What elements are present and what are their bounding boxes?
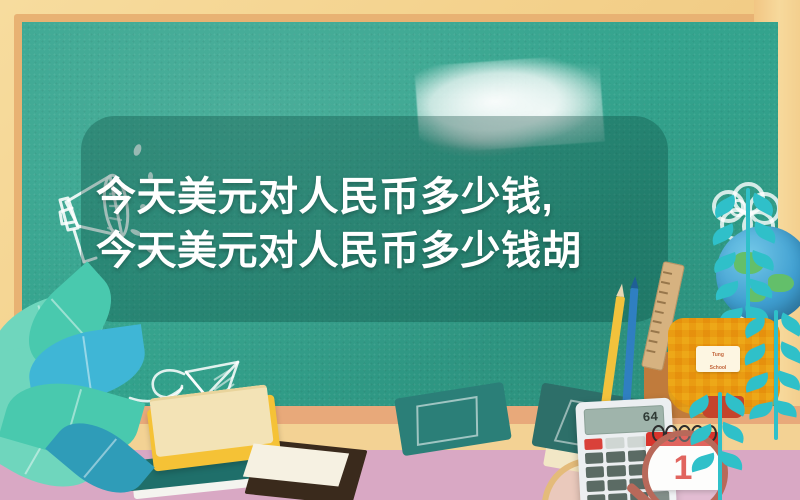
calculator-display-value: 64 (642, 409, 658, 425)
backpack-tag: Tung School (696, 346, 740, 372)
poster-canvas: 今天美元对人民币多少钱, 今天美元对人民币多少钱胡 (0, 0, 800, 500)
headline-line-2: 今天美元对人民币多少钱胡 (96, 224, 716, 278)
headline-line-1: 今天美元对人民币多少钱, (96, 170, 716, 224)
fern-icon (756, 310, 796, 440)
fern-icon (700, 392, 740, 500)
backpack-tag-line-1: Tung (696, 352, 740, 359)
backpack-tag-line-2: School (696, 365, 740, 372)
page-title: 今天美元对人民币多少钱, 今天美元对人民币多少钱胡 (96, 170, 716, 278)
